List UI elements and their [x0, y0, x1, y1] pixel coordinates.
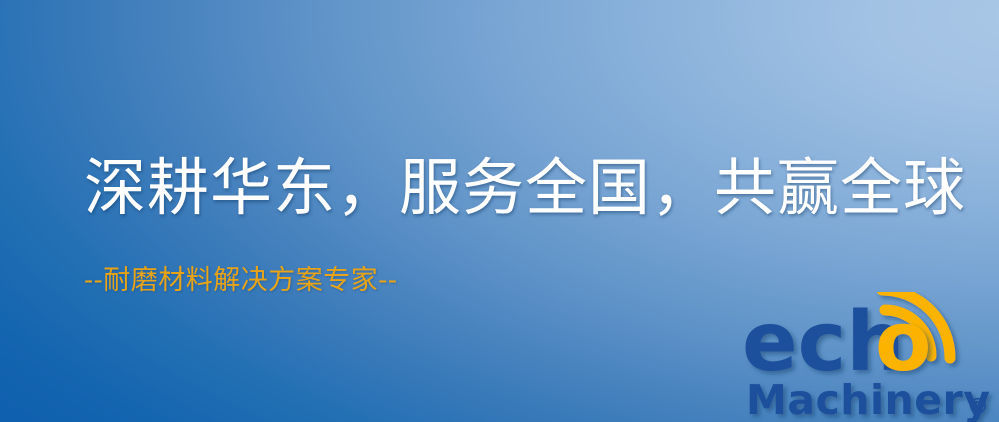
logo-text-machinery: Machinery [746, 376, 990, 422]
echo-machinery-logo: ech o Machinery ® [742, 292, 999, 422]
banner-headline: 深耕华东，服务全国，共赢全球 [84, 152, 966, 224]
banner-subtitle: --耐磨材料解决方案专家-- [84, 264, 398, 298]
logo-registered-mark: ® [967, 395, 989, 420]
promo-banner: 深耕华东，服务全国，共赢全球 --耐磨材料解决方案专家-- ech o Mach… [0, 0, 999, 422]
logo-tagline-machinery: Machinery ® [746, 376, 990, 422]
